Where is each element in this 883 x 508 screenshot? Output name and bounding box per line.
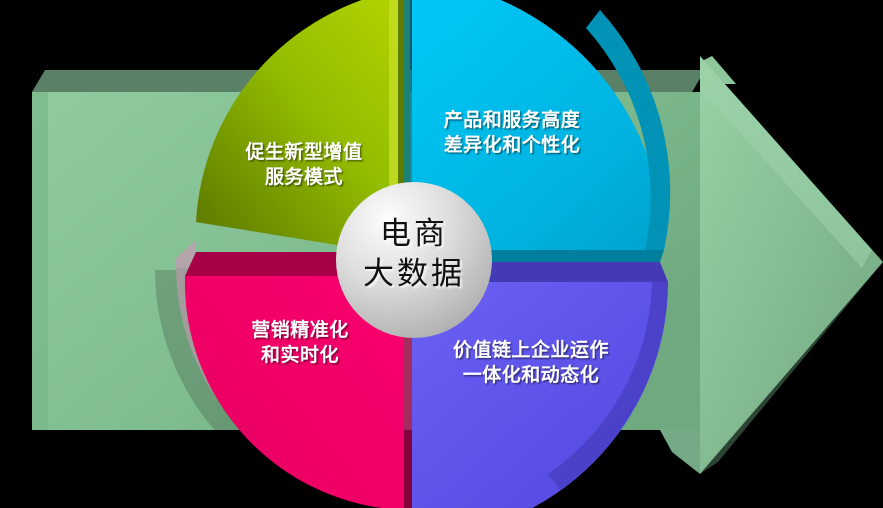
arrow-head <box>700 56 883 474</box>
center-hub-label: 电商 大数据 <box>334 214 494 295</box>
arrow-left-bevel <box>32 92 48 430</box>
diagram-canvas: 促生新型增值 服务模式 产品和服务高度 差异化和个性化 营销精准化 和实时化 价… <box>0 0 883 508</box>
arrow-notch <box>660 430 700 474</box>
